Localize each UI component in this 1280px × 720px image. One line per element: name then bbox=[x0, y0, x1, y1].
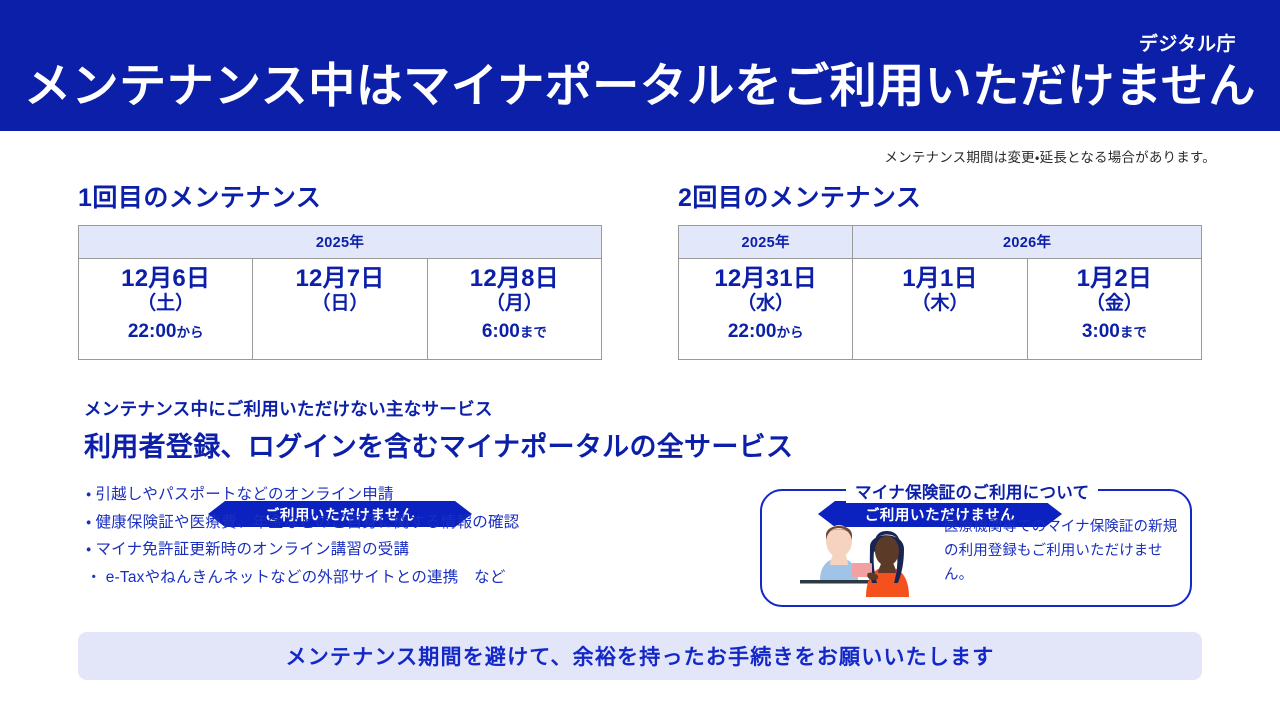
table-header-row: 2025年 2026年 bbox=[679, 226, 1202, 259]
day-time-value: 6:00 bbox=[482, 321, 520, 342]
year-header-cell: 2025年 bbox=[679, 226, 853, 259]
day-of-week: （水） bbox=[737, 293, 794, 316]
agency-logo: デジタル庁 bbox=[1139, 29, 1236, 56]
list-item: ・e-Taxやねんきんネットなどの外部サイトとの連携 など bbox=[86, 564, 519, 592]
day-time: 3:00まで bbox=[1082, 321, 1147, 343]
bullet-marker-icon: ・ bbox=[86, 569, 102, 586]
year-header-cell: 2025年 bbox=[79, 226, 602, 259]
day-cell: 1月1日 （木） bbox=[853, 259, 1027, 360]
maintenance-table-2: 2025年 2026年 12月31日 （水） 22:00から bbox=[678, 225, 1202, 360]
day-date: 12月7日 bbox=[295, 266, 384, 292]
day-date: 1月2日 bbox=[1077, 266, 1153, 292]
day-cell: 12月31日 （水） 22:00から bbox=[679, 259, 853, 360]
list-item-label: 健康保険証や医療費、年金などのご自身に関する情報の確認 bbox=[95, 514, 519, 531]
day-of-week: （日） bbox=[311, 293, 368, 316]
day-time: 22:00から bbox=[728, 321, 804, 343]
day-date: 12月6日 bbox=[121, 266, 210, 292]
page-title: メンテナンス中はマイナポータルをご利用いただけません bbox=[0, 61, 1280, 110]
day-of-week: （月） bbox=[486, 293, 543, 316]
callout-body-text: 医療機関等でのマイナ保険証の新規の利用登録もご利用いただけません。 bbox=[944, 515, 1184, 587]
maintenance-block-2-heading: 2回目のメンテナンス bbox=[678, 178, 1202, 214]
day-date: 12月31日 bbox=[714, 266, 817, 292]
table-header-row: 2025年 bbox=[79, 226, 602, 259]
bullet-marker-icon: ・ bbox=[86, 486, 91, 503]
day-of-week: （金） bbox=[1086, 293, 1143, 316]
day-time-suffix: から bbox=[776, 325, 803, 340]
day-of-week: （木） bbox=[911, 293, 968, 316]
two-people-card-illustration-icon bbox=[798, 513, 918, 597]
bottom-advisory-banner: メンテナンス期間を避けて、余裕を持ったお手続きをお願いいたします bbox=[78, 632, 1202, 680]
day-date: 1月1日 bbox=[902, 266, 978, 292]
day-time-suffix: まで bbox=[1120, 325, 1147, 340]
banner-text: メンテナンス期間を避けて、余裕を持ったお手続きをお願いいたします bbox=[286, 641, 995, 671]
period-change-note: メンテナンス期間は変更・延長となる場合があります。 bbox=[884, 146, 1216, 166]
services-subheading: メンテナンス中にご利用いただけない主なサービス bbox=[84, 396, 493, 421]
day-time-value: 3:00 bbox=[1082, 321, 1120, 342]
maintenance-block-1-heading: 1回目のメンテナンス bbox=[78, 178, 602, 214]
day-time-suffix: から bbox=[176, 325, 203, 340]
day-time-suffix: まで bbox=[520, 325, 547, 340]
day-cell: 12月7日 （日） bbox=[253, 259, 427, 360]
services-main-heading: 利用者登録、ログインを含むマイナポータルの全サービス bbox=[84, 425, 793, 464]
day-date: 12月8日 bbox=[470, 266, 559, 292]
list-item: ・引越しやパスポートなどのオンライン申請 bbox=[86, 481, 519, 509]
day-cell: 1月2日 （金） 3:00まで bbox=[1027, 259, 1201, 360]
maintenance-table-1: 2025年 12月6日 （土） 22:00から 12月7日 bbox=[78, 225, 602, 360]
day-of-week: （土） bbox=[137, 293, 194, 316]
list-item-label: e-Taxやねんきんネットなどの外部サイトとの連携 など bbox=[106, 569, 506, 586]
bullet-marker-icon: ・ bbox=[86, 514, 91, 531]
list-item: ・マイナ免許証更新時のオンライン講習の受講 bbox=[86, 536, 519, 564]
day-cell: 12月8日 （月） 6:00まで bbox=[427, 259, 601, 360]
table-row: 12月31日 （水） 22:00から 1月1日 （木） bbox=[679, 259, 1202, 360]
year-header-cell: 2026年 bbox=[853, 226, 1202, 259]
maintenance-notice-page: デジタル庁 メンテナンス中はマイナポータルをご利用いただけません メンテナンス期… bbox=[0, 0, 1280, 720]
maintenance-block-1: 1回目のメンテナンス 2025年 12月6日 （土） 22:00から bbox=[78, 178, 602, 360]
maintenance-block-2: 2回目のメンテナンス 2025年 2026年 12月31日 （水） 22:00か… bbox=[678, 178, 1202, 360]
day-time: 6:00まで bbox=[482, 321, 547, 343]
callout-title: マイナ保険証のご利用について bbox=[846, 479, 1098, 503]
day-cell: 12月6日 （土） 22:00から bbox=[79, 259, 253, 360]
page-header: デジタル庁 メンテナンス中はマイナポータルをご利用いただけません bbox=[0, 0, 1280, 131]
day-time: 22:00から bbox=[128, 321, 204, 343]
list-item-label: マイナ免許証更新時のオンライン講習の受講 bbox=[95, 541, 409, 558]
list-item-label: 引越しやパスポートなどのオンライン申請 bbox=[95, 486, 393, 503]
list-item: ・健康保険証や医療費、年金などのご自身に関する情報の確認 bbox=[86, 509, 519, 537]
unavailable-services-list: ・引越しやパスポートなどのオンライン申請 ・健康保険証や医療費、年金などのご自身… bbox=[86, 481, 519, 591]
bullet-marker-icon: ・ bbox=[86, 541, 91, 558]
table-row: 12月6日 （土） 22:00から 12月7日 （日） bbox=[79, 259, 602, 360]
day-time-value: 22:00 bbox=[728, 321, 777, 342]
day-time-value: 22:00 bbox=[128, 321, 177, 342]
health-insurance-callout: マイナ保険証のご利用について 医療機関等でのマイナ保険証の新規の利用登録もご利用… bbox=[760, 489, 1192, 607]
